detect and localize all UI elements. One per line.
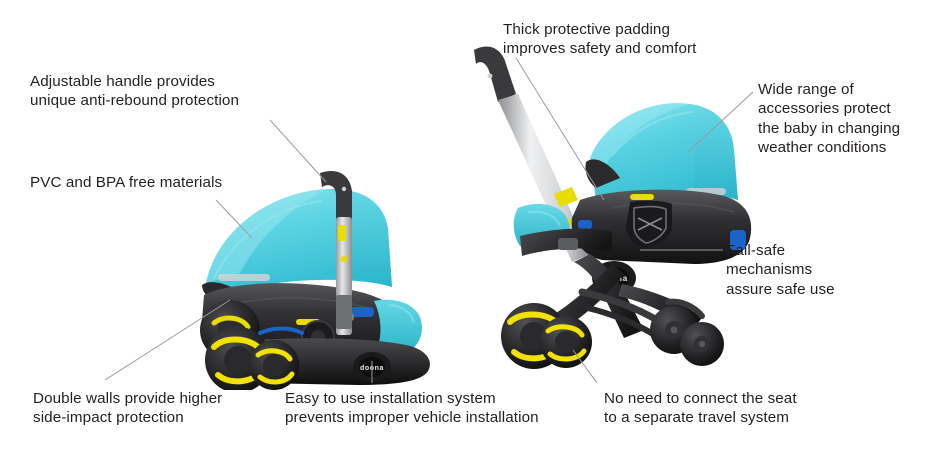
callout-adjustable-handle: Adjustable handle provides unique anti-r… [30, 72, 239, 111]
callout-double-walls: Double walls provide higher side-impact … [33, 389, 222, 428]
product-image-stroller-mode: doona [462, 40, 752, 380]
brand-logo-doona-left: doona [359, 357, 385, 377]
callout-pvc-bpa-free: PVC and BPA free materials [30, 173, 222, 192]
callout-easy-installation: Easy to use installation system prevents… [285, 389, 539, 428]
callout-no-travel-system: No need to connect the seat to a separat… [604, 389, 797, 428]
svg-text:doona: doona [360, 365, 384, 372]
feature-callout-diagram: doona [0, 0, 940, 457]
callout-fail-safe: Fail-safe mechanisms assure safe use [726, 241, 835, 299]
callout-thick-padding: Thick protective padding improves safety… [503, 20, 696, 59]
callout-wide-accessories: Wide range of accessories protect the ba… [758, 80, 900, 158]
